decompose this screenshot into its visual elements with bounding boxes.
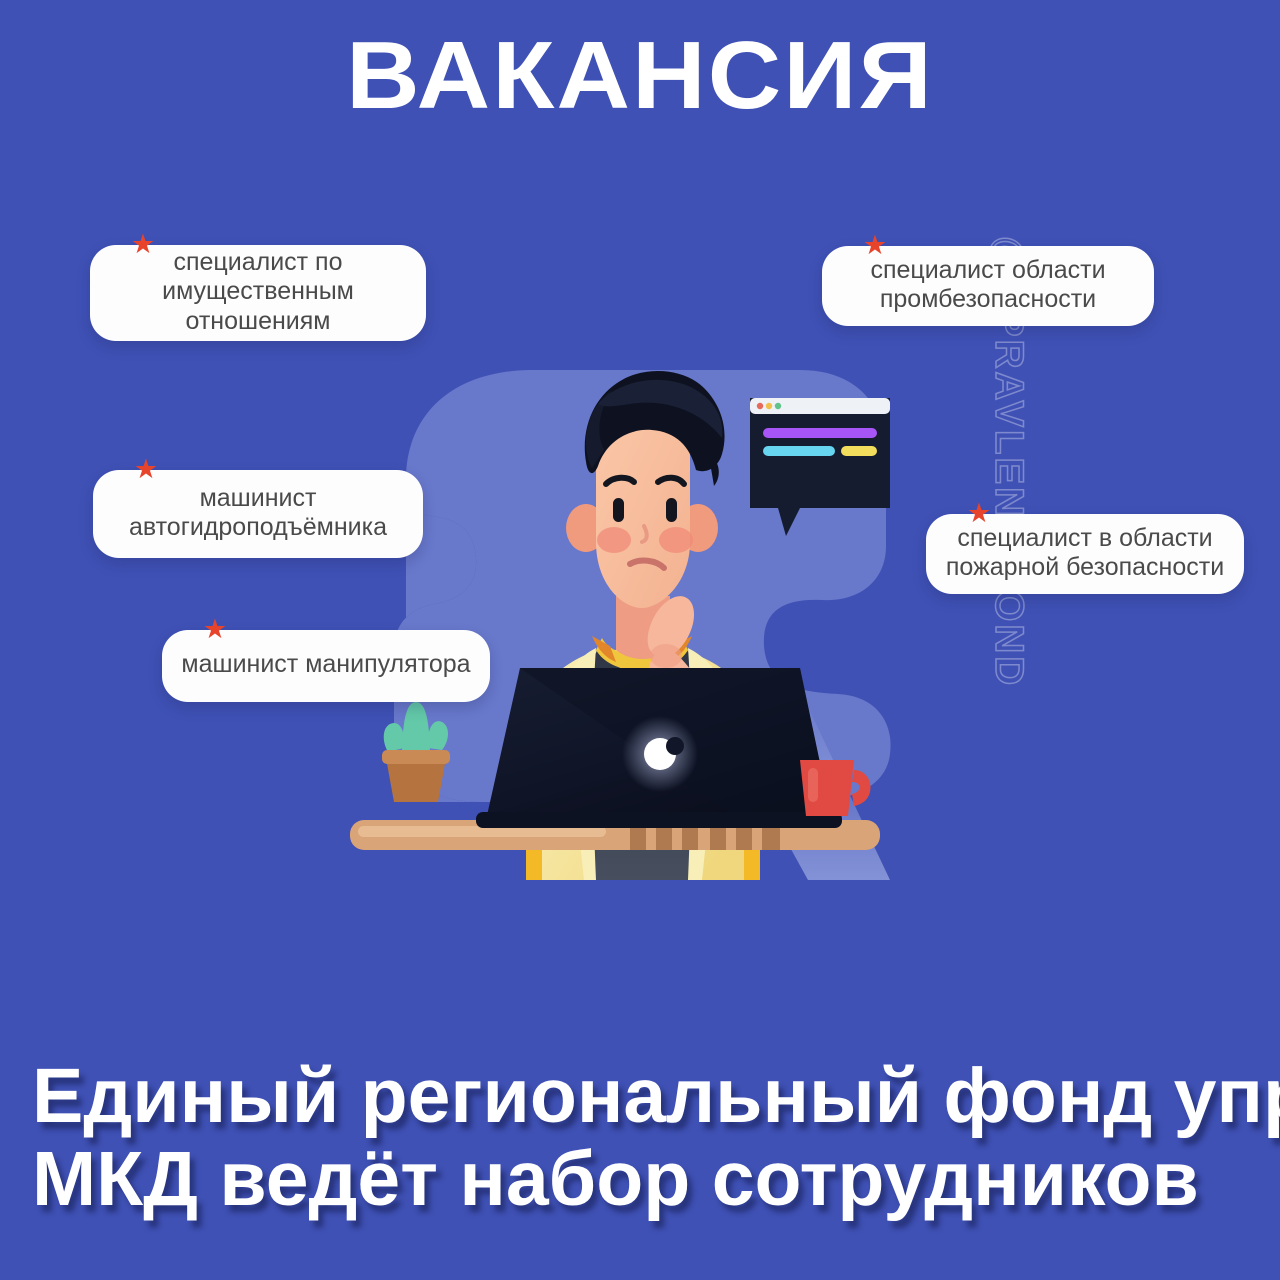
star-icon: ★ bbox=[202, 616, 228, 642]
speech-bubble-avtogidropodyomnik[interactable]: ★ машинист автогидроподъёмника bbox=[93, 470, 423, 558]
bubble-tail bbox=[229, 546, 299, 608]
bubble-tail bbox=[910, 316, 980, 378]
bubble-line: специалист по bbox=[173, 248, 342, 276]
poster-canvas: ВАКАНСИЯ @UPRAVLENIEFOND bbox=[0, 0, 1280, 1280]
speech-bubble-prombezopasnost[interactable]: ★ специалист области промбезопасности bbox=[822, 246, 1154, 326]
speech-bubble-imushchestvennye-otnosheniya[interactable]: ★ специалист по имущественным отношениям bbox=[90, 245, 426, 341]
bubble-line: машинист bbox=[200, 484, 317, 512]
bubble-line: машинист манипулятора bbox=[181, 650, 470, 678]
page-title: ВАКАНСИЯ bbox=[0, 26, 1280, 127]
illustration-person-thinking-at-laptop bbox=[330, 350, 900, 880]
bubble-text: специалист области промбезопасности bbox=[870, 256, 1105, 315]
bubble-text: машинист манипулятора bbox=[181, 650, 470, 680]
speech-bubble-pozharnaya-bezopasnost[interactable]: ★ специалист в области пожарной безопасн… bbox=[926, 514, 1244, 594]
headline-line-1: Единый региональный фонд управления bbox=[32, 1055, 1248, 1138]
star-icon: ★ bbox=[133, 456, 159, 482]
star-icon: ★ bbox=[966, 500, 992, 526]
bubble-line: автогидроподъёмника bbox=[129, 513, 387, 541]
bubble-line: промбезопасности bbox=[880, 285, 1096, 313]
bubble-text: машинист автогидроподъёмника bbox=[129, 484, 387, 543]
bubble-text: специалист по имущественным отношениям bbox=[108, 248, 408, 337]
bubble-text: специалист в области пожарной безопаснос… bbox=[946, 524, 1224, 583]
headline: Единый региональный фонд управления МКД … bbox=[32, 1055, 1248, 1221]
bubble-line: пожарной безопасности bbox=[946, 553, 1224, 581]
bubble-tail bbox=[1074, 584, 1144, 646]
laptop bbox=[476, 668, 842, 828]
star-icon: ★ bbox=[862, 232, 888, 258]
bubble-line: специалист в области bbox=[957, 524, 1212, 552]
bubble-line: специалист области bbox=[870, 256, 1105, 284]
bubble-line: имущественным отношениям bbox=[162, 277, 354, 335]
star-icon: ★ bbox=[130, 231, 156, 257]
speech-bubble-manipulyator[interactable]: ★ машинист манипулятора bbox=[162, 630, 490, 702]
headline-line-2: МКД ведёт набор сотрудников bbox=[32, 1138, 1248, 1221]
